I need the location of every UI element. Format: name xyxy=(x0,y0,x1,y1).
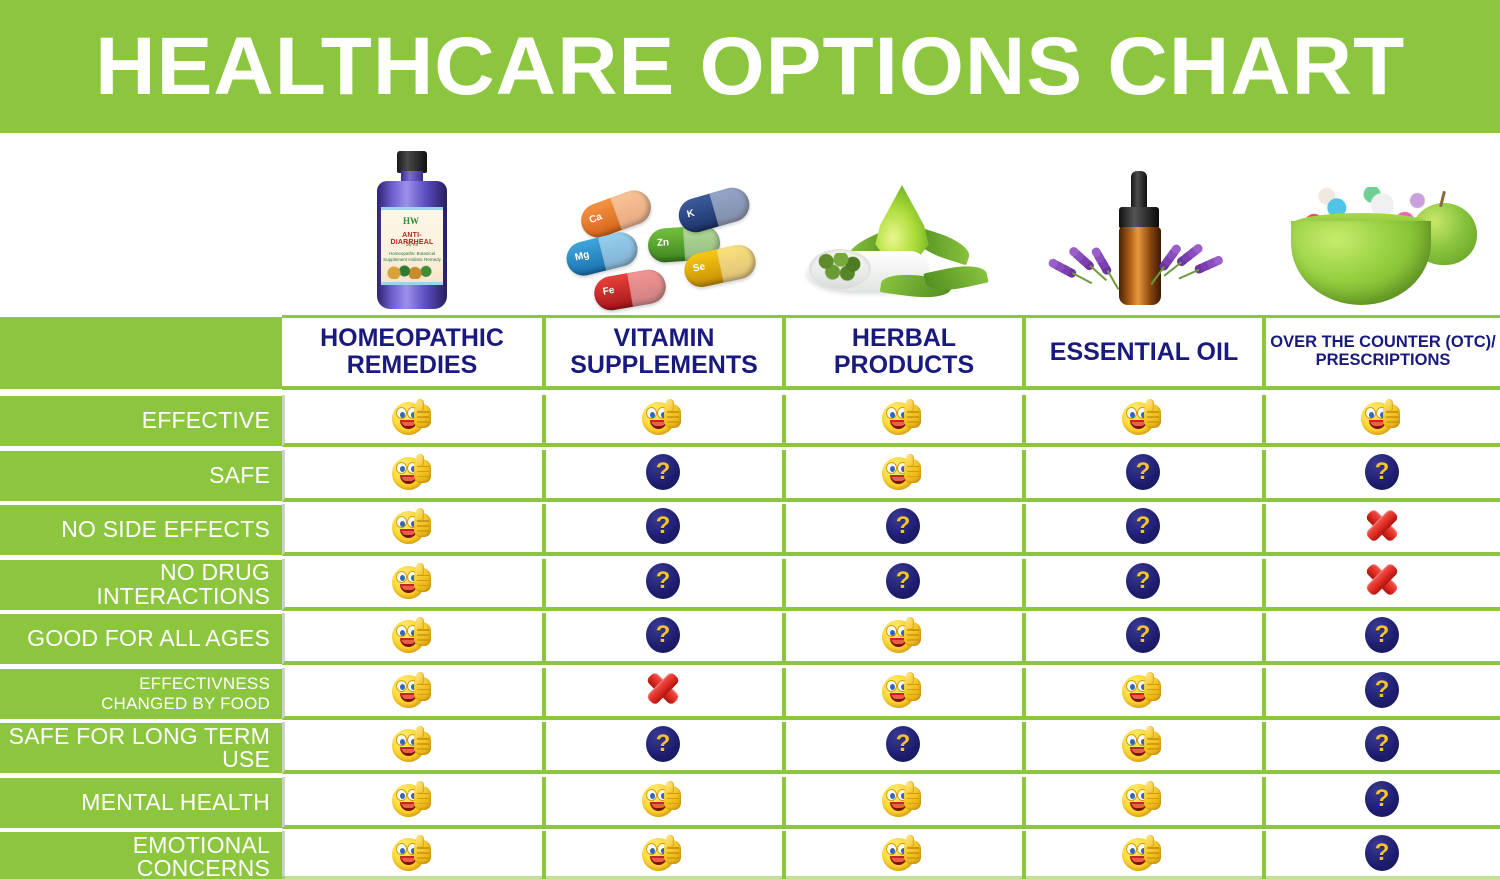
cell-r4-c2 xyxy=(782,613,1022,665)
table-row: NO DRUG INTERACTIONS??? xyxy=(0,558,1500,613)
smiley-thumbs-up-icon xyxy=(642,781,686,821)
row-label-line2: CHANGED BY FOOD xyxy=(101,694,270,714)
vitamin-capsules-icon: Ca Mg Fe Zn K Se xyxy=(562,191,762,311)
row-label-0: EFFECTIVE xyxy=(0,396,282,446)
criteria-rows: EFFECTIVESAFE???NO SIDE EFFECTS???NO DRU… xyxy=(0,394,1500,879)
cell-r3-c2: ? xyxy=(782,559,1022,611)
cell-r1-c2 xyxy=(782,450,1022,502)
table-row: NO SIDE EFFECTS??? xyxy=(0,503,1500,558)
column-header-vitamin: VITAMIN SUPPLEMENTS xyxy=(542,315,782,390)
table-row: EMOTIONAL CONCERNS? xyxy=(0,830,1500,879)
product-image-row: HW ANTI-DIARRHEAL 30 ml Homeopathic Bota… xyxy=(282,133,1500,315)
cell-r7-c4: ? xyxy=(1262,777,1500,829)
homeopathic-remedy-bottle-icon: HW ANTI-DIARRHEAL 30 ml Homeopathic Bota… xyxy=(369,151,455,311)
question-mark-icon: ? xyxy=(642,563,686,603)
cell-r6-c1: ? xyxy=(542,722,782,774)
herbal-leaf-droplet-icon xyxy=(807,179,997,311)
product-image-cell-vitamin: Ca Mg Fe Zn K Se xyxy=(542,133,782,315)
row-label-4: GOOD FOR ALL AGES xyxy=(0,614,282,664)
smiley-thumbs-up-icon xyxy=(392,508,436,548)
question-mark-icon: ? xyxy=(642,454,686,494)
smiley-thumbs-up-icon xyxy=(882,835,926,875)
cell-r3-c4 xyxy=(1262,559,1500,611)
smiley-thumbs-up-icon xyxy=(642,399,686,439)
cell-r2-c4 xyxy=(1262,504,1500,556)
question-mark-icon: ? xyxy=(642,617,686,657)
column-header-herbal: HERBAL PRODUCTS xyxy=(782,315,1022,390)
question-mark-icon: ? xyxy=(882,726,926,766)
smiley-thumbs-up-icon xyxy=(882,399,926,439)
cell-r5-c2 xyxy=(782,668,1022,720)
grid-corner-cell xyxy=(0,317,282,389)
bottle-logo-text: HW xyxy=(403,216,419,226)
cell-r1-c0 xyxy=(282,450,542,502)
column-header-line2: PRESCRIPTIONS xyxy=(1270,352,1496,370)
cell-r4-c0 xyxy=(282,613,542,665)
cell-r0-c3 xyxy=(1022,395,1262,447)
smiley-thumbs-up-icon xyxy=(1122,399,1166,439)
smiley-thumbs-up-icon xyxy=(392,399,436,439)
smiley-thumbs-up-icon xyxy=(392,563,436,603)
column-header-line2: SUPPLEMENTS xyxy=(570,352,758,379)
question-mark-icon: ? xyxy=(1122,563,1166,603)
cell-r0-c1 xyxy=(542,395,782,447)
row-label-6: SAFE FOR LONG TERM USE xyxy=(0,723,282,773)
column-header-line2: REMEDIES xyxy=(320,352,504,379)
product-image-cell-essential-oil xyxy=(1022,133,1262,315)
cell-r3-c3: ? xyxy=(1022,559,1262,611)
question-mark-icon: ? xyxy=(1122,454,1166,494)
question-mark-icon: ? xyxy=(1361,835,1405,875)
table-row: EFFECTIVNESSCHANGED BY FOOD? xyxy=(0,667,1500,722)
question-mark-icon: ? xyxy=(1361,726,1405,766)
cell-r8-c1 xyxy=(542,831,782,879)
smiley-thumbs-up-icon xyxy=(1122,672,1166,712)
cell-r3-c1: ? xyxy=(542,559,782,611)
cell-r4-c4: ? xyxy=(1262,613,1500,665)
smiley-thumbs-up-icon xyxy=(392,672,436,712)
cell-r8-c3 xyxy=(1022,831,1262,879)
cell-r6-c4: ? xyxy=(1262,722,1500,774)
bottle-size-text: 30 ml xyxy=(381,242,443,248)
smiley-thumbs-up-icon xyxy=(392,617,436,657)
smiley-thumbs-up-icon xyxy=(1361,399,1405,439)
red-x-icon xyxy=(1361,508,1405,548)
comparison-grid: HW ANTI-DIARRHEAL 30 ml Homeopathic Bota… xyxy=(0,133,1500,879)
cell-r2-c2: ? xyxy=(782,504,1022,556)
red-x-icon xyxy=(1361,563,1405,603)
cell-r8-c4: ? xyxy=(1262,831,1500,879)
essential-oil-dropper-bottle-icon xyxy=(1057,171,1227,311)
column-header-line1: HERBAL xyxy=(834,325,974,352)
cell-r0-c2 xyxy=(782,395,1022,447)
smiley-thumbs-up-icon xyxy=(392,781,436,821)
pills-bowl-apple-icon xyxy=(1281,181,1481,311)
cell-r0-c4 xyxy=(1262,395,1500,447)
row-label-8: EMOTIONAL CONCERNS xyxy=(0,832,282,879)
smiley-thumbs-up-icon xyxy=(1122,835,1166,875)
smiley-thumbs-up-icon xyxy=(882,781,926,821)
page-title: HEALTHCARE OPTIONS CHART xyxy=(95,26,1405,108)
cell-r6-c3 xyxy=(1022,722,1262,774)
column-header-line1: HOMEOPATHIC xyxy=(320,325,504,352)
red-x-icon xyxy=(642,672,686,712)
cell-r1-c4: ? xyxy=(1262,450,1500,502)
smiley-thumbs-up-icon xyxy=(392,835,436,875)
table-row: SAFE??? xyxy=(0,449,1500,504)
cell-r0-c0 xyxy=(282,395,542,447)
product-image-cell-herbal xyxy=(782,133,1022,315)
title-banner: HEALTHCARE OPTIONS CHART xyxy=(0,0,1500,133)
row-label-3: NO DRUG INTERACTIONS xyxy=(0,560,282,610)
cell-r6-c2: ? xyxy=(782,722,1022,774)
question-mark-icon: ? xyxy=(1122,617,1166,657)
cell-r5-c3 xyxy=(1022,668,1262,720)
question-mark-icon: ? xyxy=(1361,781,1405,821)
question-mark-icon: ? xyxy=(1361,617,1405,657)
cell-r5-c0 xyxy=(282,668,542,720)
column-header-essential-oil: ESSENTIAL OIL xyxy=(1022,315,1262,390)
table-row: EFFECTIVE xyxy=(0,394,1500,449)
smiley-thumbs-up-icon xyxy=(392,726,436,766)
column-header-line1: ESSENTIAL OIL xyxy=(1050,339,1238,366)
cell-r4-c3: ? xyxy=(1022,613,1262,665)
smiley-thumbs-up-icon xyxy=(882,454,926,494)
cell-r2-c3: ? xyxy=(1022,504,1262,556)
smiley-thumbs-up-icon xyxy=(642,835,686,875)
cell-r1-c3: ? xyxy=(1022,450,1262,502)
cell-r7-c3 xyxy=(1022,777,1262,829)
question-mark-icon: ? xyxy=(1361,454,1405,494)
question-mark-icon: ? xyxy=(882,508,926,548)
cell-r4-c1: ? xyxy=(542,613,782,665)
cell-r1-c1: ? xyxy=(542,450,782,502)
smiley-thumbs-up-icon xyxy=(1122,781,1166,821)
cell-r7-c1 xyxy=(542,777,782,829)
smiley-thumbs-up-icon xyxy=(882,672,926,712)
question-mark-icon: ? xyxy=(882,563,926,603)
cell-r5-c4: ? xyxy=(1262,668,1500,720)
cell-r7-c0 xyxy=(282,777,542,829)
smiley-thumbs-up-icon xyxy=(882,617,926,657)
cell-r2-c1: ? xyxy=(542,504,782,556)
column-header-homeopathic: HOMEOPATHIC REMEDIES xyxy=(282,315,542,390)
row-label-7: MENTAL HEALTH xyxy=(0,778,282,828)
cell-r5-c1 xyxy=(542,668,782,720)
cell-r8-c2 xyxy=(782,831,1022,879)
cell-r7-c2 xyxy=(782,777,1022,829)
row-label-1: SAFE xyxy=(0,451,282,501)
question-mark-icon: ? xyxy=(1361,672,1405,712)
cell-r3-c0 xyxy=(282,559,542,611)
column-header-line1: VITAMIN xyxy=(570,325,758,352)
column-header-row: HOMEOPATHIC REMEDIES VITAMIN SUPPLEMENTS… xyxy=(0,315,1500,394)
column-header-line1: OVER THE COUNTER (OTC)/ xyxy=(1270,334,1496,352)
cell-r2-c0 xyxy=(282,504,542,556)
row-label-5: EFFECTIVNESSCHANGED BY FOOD xyxy=(0,669,282,719)
table-row: SAFE FOR LONG TERM USE??? xyxy=(0,721,1500,776)
product-image-cell-otc xyxy=(1262,133,1500,315)
table-row: GOOD FOR ALL AGES??? xyxy=(0,612,1500,667)
column-header-otc: OVER THE COUNTER (OTC)/ PRESCRIPTIONS xyxy=(1262,315,1500,390)
smiley-thumbs-up-icon xyxy=(392,454,436,494)
product-image-cell-homeopathic: HW ANTI-DIARRHEAL 30 ml Homeopathic Bota… xyxy=(282,133,542,315)
smiley-thumbs-up-icon xyxy=(1122,726,1166,766)
healthcare-options-chart-page: HEALTHCARE OPTIONS CHART HW ANTI-DIARRHE… xyxy=(0,0,1500,879)
question-mark-icon: ? xyxy=(642,508,686,548)
question-mark-icon: ? xyxy=(1122,508,1166,548)
cell-r8-c0 xyxy=(282,831,542,879)
row-label-2: NO SIDE EFFECTS xyxy=(0,505,282,555)
column-header-line2: PRODUCTS xyxy=(834,352,974,379)
question-mark-icon: ? xyxy=(642,726,686,766)
table-row: MENTAL HEALTH? xyxy=(0,776,1500,831)
row-label-line1: EFFECTIVNESS xyxy=(101,674,270,694)
cell-r6-c0 xyxy=(282,722,542,774)
